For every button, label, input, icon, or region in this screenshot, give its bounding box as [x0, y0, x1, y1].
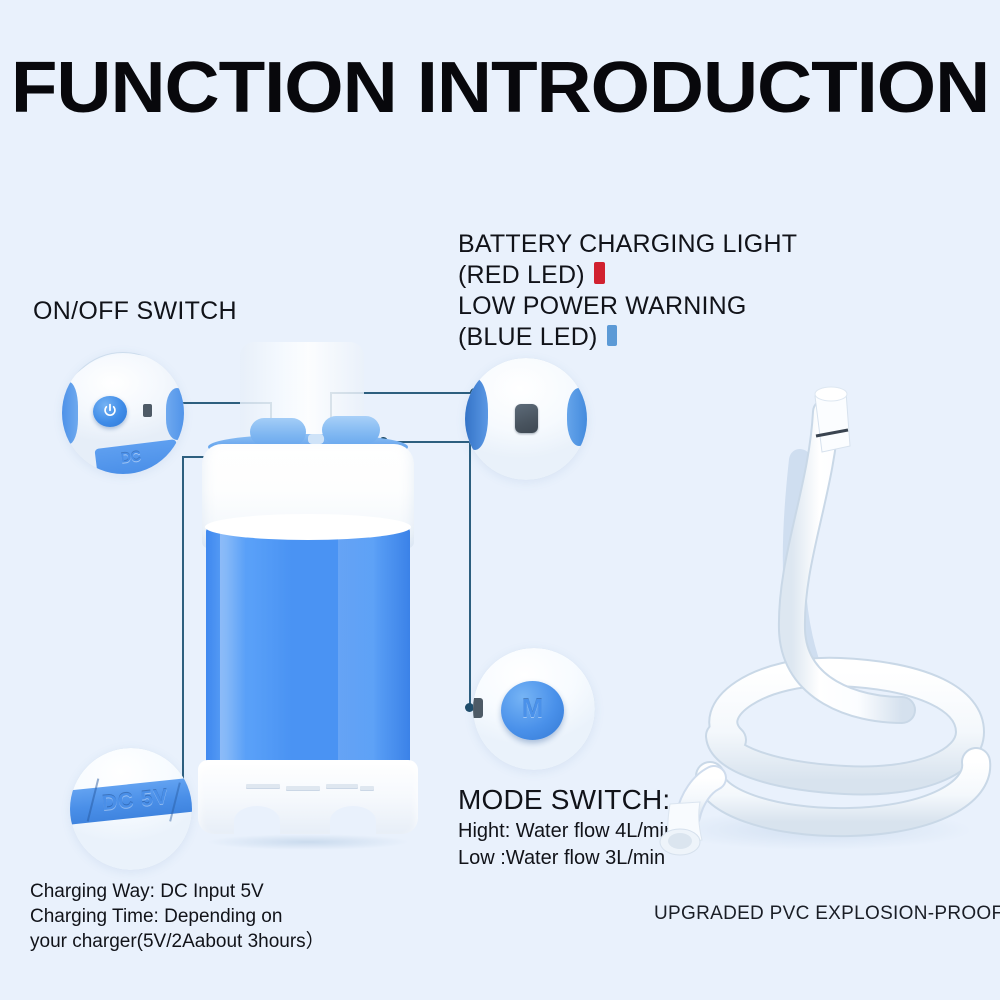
device-blue-body: [206, 526, 410, 780]
top-button-left[interactable]: [250, 418, 306, 446]
blue-accent-left: [465, 378, 488, 450]
infographic-canvas: FUNCTION INTRODUCTION ON/OFF SWITCH BATT…: [0, 0, 1000, 1000]
charging-detail-line: your charger(5V/2Aabout 3hours）: [30, 929, 325, 954]
connector-tab: [473, 698, 483, 718]
blue-accent-right: [567, 388, 587, 446]
callout-on-off-switch[interactable]: DC: [62, 352, 184, 474]
mode-button[interactable]: M: [501, 681, 564, 740]
hose-illustration: [640, 380, 1000, 880]
blue-led-line: (BLUE LED): [458, 322, 797, 353]
red-led-swatch-icon: [594, 262, 605, 284]
label-hose-caption: UPGRADED PVC EXPLOSION-PROOF HOSE: [654, 903, 1000, 925]
top-button-right[interactable]: [322, 416, 380, 444]
body-highlight-center: [338, 528, 378, 778]
charging-time-line: Charging Time: Depending on: [30, 904, 325, 929]
pvc-hose: [640, 380, 1000, 880]
hose-end-fitting: [660, 802, 702, 855]
blue-led-swatch-icon: [607, 325, 617, 346]
blue-accent-right: [166, 388, 184, 440]
page-title: FUNCTION INTRODUCTION: [0, 52, 1000, 124]
connector-dc-vertical: [182, 456, 184, 806]
mode-button-label: M: [501, 693, 564, 724]
blue-accent-left: [62, 382, 78, 444]
body-highlight-left: [220, 528, 246, 778]
led-indicator-window: [143, 404, 152, 417]
device-drop-shadow: [206, 834, 410, 850]
power-symbol-icon: [101, 402, 119, 420]
vent-slot: [360, 786, 374, 790]
label-charging-block: Charging Way: DC Input 5V Charging Time:…: [30, 879, 325, 954]
vent-slot: [286, 786, 320, 790]
vent-slot: [246, 784, 280, 788]
top-nozzle-center: [308, 434, 324, 444]
device-white-base: [198, 760, 418, 834]
red-led-text: (RED LED): [458, 261, 585, 289]
led-window: [515, 404, 538, 433]
battery-light-line: BATTERY CHARGING LIGHT: [458, 229, 797, 260]
connector-mode-vertical: [469, 441, 471, 707]
dc-band-label: DC: [120, 448, 142, 466]
low-power-line: LOW POWER WARNING: [458, 291, 797, 322]
callout-dc-input[interactable]: DC 5V: [70, 748, 192, 870]
charging-way-line: Charging Way: DC Input 5V: [30, 879, 325, 904]
portable-shower-device: [188, 430, 428, 860]
base-arch-right: [330, 806, 376, 836]
callout-led-indicator[interactable]: [465, 358, 587, 480]
base-arch-left: [234, 806, 280, 836]
label-battery-indicator-block: BATTERY CHARGING LIGHT (RED LED) LOW POW…: [458, 229, 797, 353]
label-on-off-switch: ON/OFF SWITCH: [33, 297, 237, 326]
blue-led-text: (BLUE LED): [458, 323, 598, 351]
dc-5v-label: DC 5V: [101, 785, 170, 816]
callout-mode-switch[interactable]: M: [473, 648, 595, 770]
power-button[interactable]: [93, 396, 127, 427]
vent-slot: [326, 784, 358, 788]
red-led-line: (RED LED): [458, 260, 797, 291]
